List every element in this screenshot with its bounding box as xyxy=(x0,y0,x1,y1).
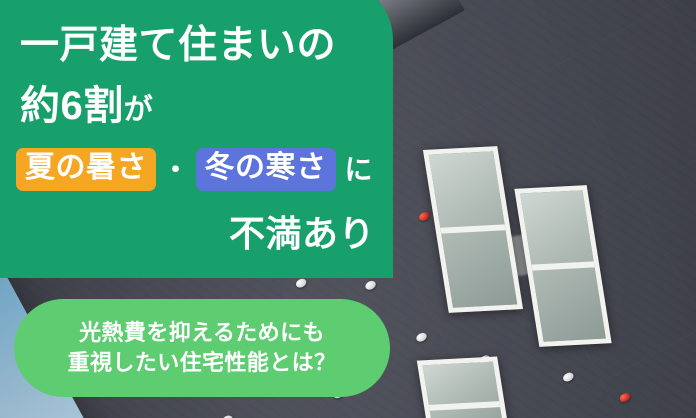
headline-line-1: 一戸建て住まいの xyxy=(20,23,336,69)
badge-summer-heat: 夏の暑さ xyxy=(16,148,156,191)
banner-canvas: 一戸建て住まいの 約6割が 夏の暑さ ・ 冬の寒さ に 不満あり 光熱費を抑える… xyxy=(0,0,696,418)
subtitle-line-2: 重視したい住宅性能とは？ xyxy=(68,348,337,378)
badge-separator: ・ xyxy=(161,150,191,190)
subtitle-pill: 光熱費を抑えるためにも 重視したい住宅性能とは？ xyxy=(14,299,390,397)
headline-particle-ga: が xyxy=(124,94,154,126)
headline-line-2: 約6割が xyxy=(20,86,153,130)
headline-text-group: 一戸建て住まいの 約6割が 夏の暑さ ・ 冬の寒さ に 不満あり xyxy=(0,0,393,278)
badge-winter-cold: 冬の寒さ xyxy=(196,148,336,191)
headline-ratio: 約6割 xyxy=(20,84,124,128)
subtitle-line-1: 光熱費を抑えるためにも xyxy=(79,318,325,348)
headline-particle-ni: に xyxy=(345,150,374,190)
headline-line-4: 不満あり xyxy=(0,212,375,256)
headline-badge-row: 夏の暑さ ・ 冬の寒さ に xyxy=(16,148,373,191)
